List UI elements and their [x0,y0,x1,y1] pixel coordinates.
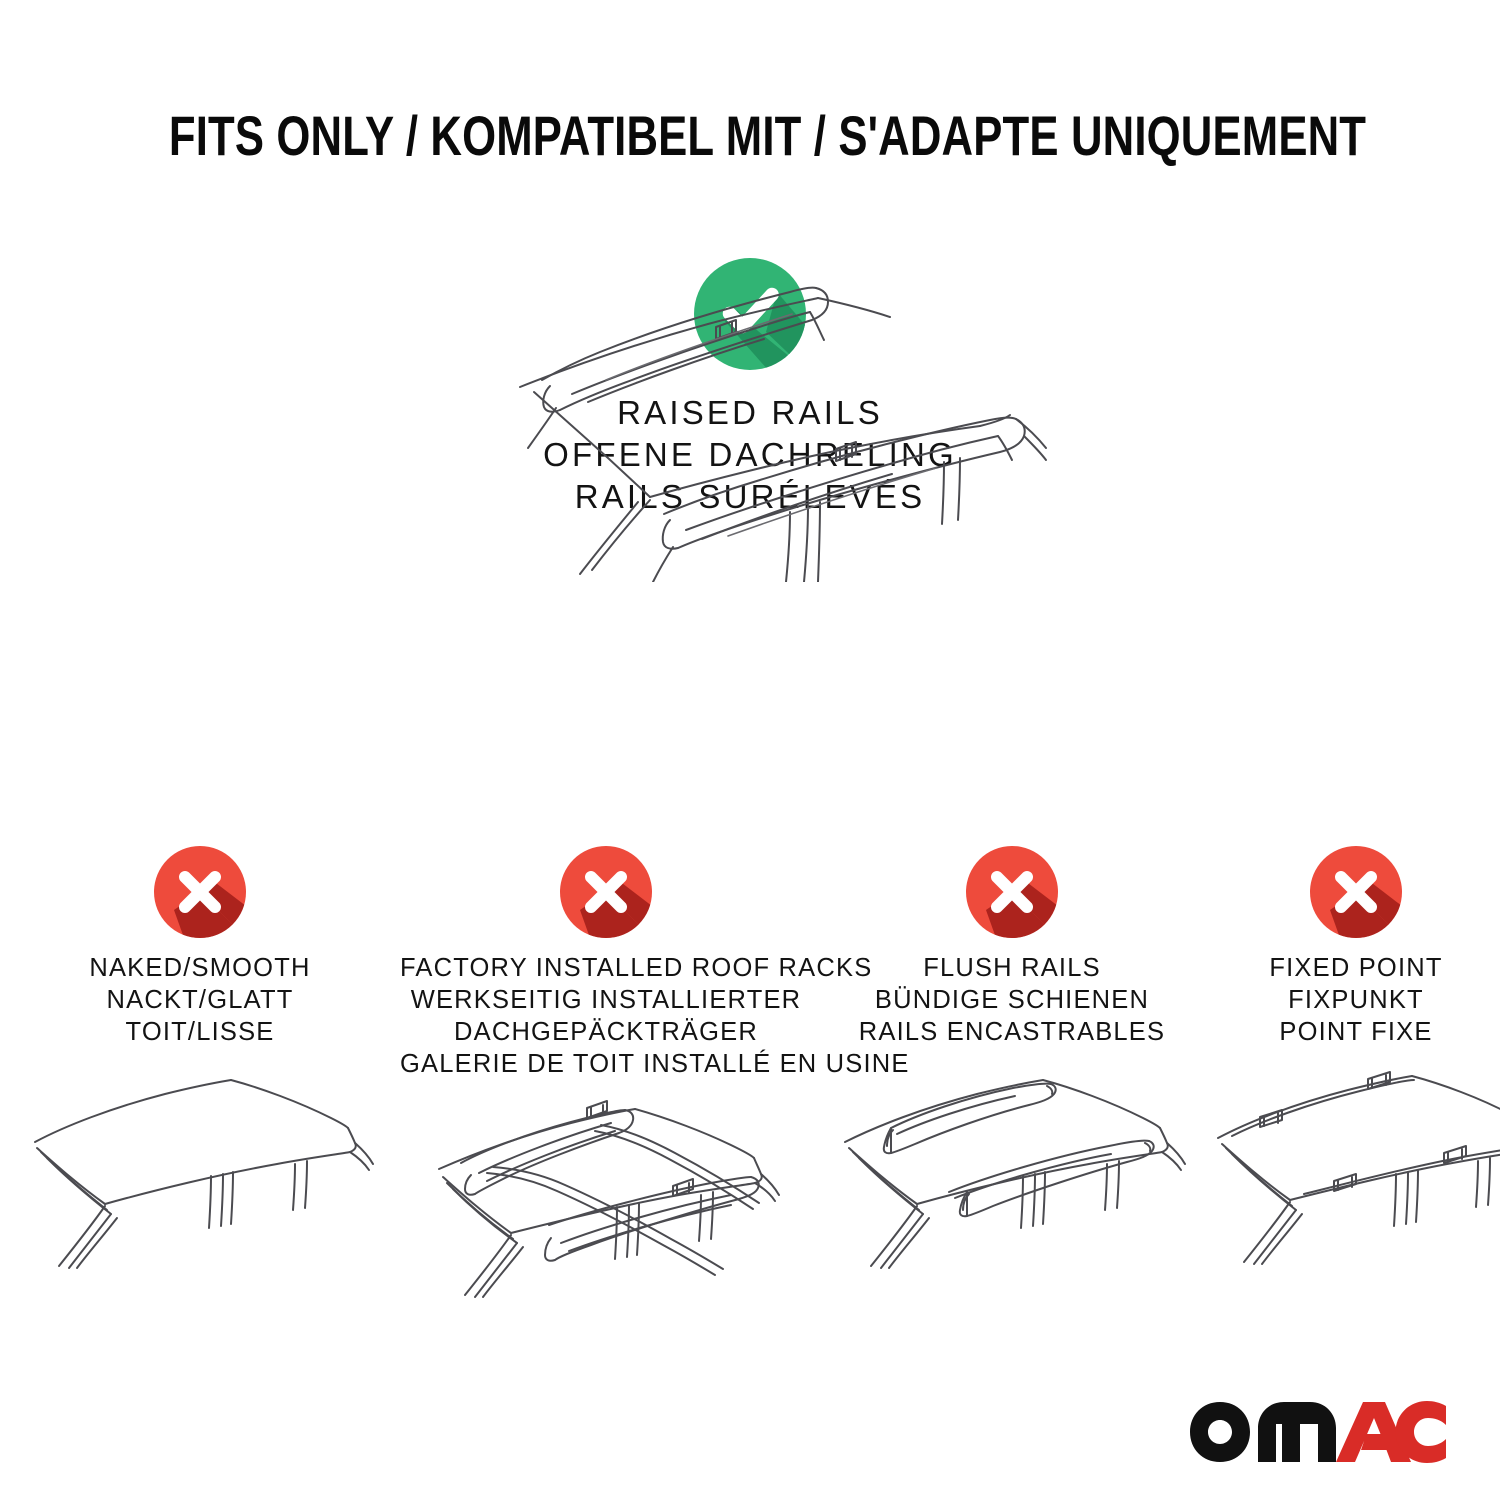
label-line-fr: RAILS ENCASTRABLES [812,1016,1212,1048]
omac-logo [1188,1400,1448,1464]
page-title: FITS ONLY / KOMPATIBEL MIT / S'ADAPTE UN… [0,108,1500,164]
label-line-en: FACTORY INSTALLED ROOF RACKS [400,952,812,984]
incompatible-labels: FACTORY INSTALLED ROOF RACKS WERKSEITIG … [400,952,812,1081]
label-line-de: FIXPUNKT [1212,984,1500,1016]
incompatible-item-naked-smooth: NAKED/SMOOTH NACKT/GLATT TOIT/LISSE [0,846,400,1294]
cross-circle-icon [560,846,652,938]
incompatible-labels: FLUSH RAILS BÜNDIGE SCHIENEN RAILS ENCAS… [812,952,1212,1048]
car-roof-raised-rails-illustration [0,252,1500,582]
car-roof-factory-roof-racks-illustration [400,1097,812,1327]
page-title-text: FITS ONLY / KOMPATIBEL MIT / S'ADAPTE UN… [169,108,1366,164]
label-line-de-1: WERKSEITIG INSTALLIERTER [400,984,812,1016]
incompatible-grid: NAKED/SMOOTH NACKT/GLATT TOIT/LISSE [0,846,1500,1327]
label-line-de-2: DACHGEPÄCKTRÄGER [400,1016,812,1048]
cross-circle-icon [1310,846,1402,938]
label-line-fr: TOIT/LISSE [0,1016,400,1048]
label-line-de: BÜNDIGE SCHIENEN [812,984,1212,1016]
label-line-en: NAKED/SMOOTH [0,952,400,984]
cross-circle-icon [154,846,246,938]
cross-circle-icon [966,846,1058,938]
car-roof-fixed-point-illustration [1212,1064,1500,1294]
label-line-en: FLUSH RAILS [812,952,1212,984]
car-roof-flush-rails-illustration [812,1064,1212,1294]
car-roof-naked-smooth-illustration [0,1064,400,1294]
label-line-fr: GALERIE DE TOIT INSTALLÉ EN USINE [400,1048,812,1080]
incompatible-item-flush-rails: FLUSH RAILS BÜNDIGE SCHIENEN RAILS ENCAS… [812,846,1212,1294]
incompatible-item-factory-roof-racks: FACTORY INSTALLED ROOF RACKS WERKSEITIG … [400,846,812,1327]
incompatible-labels: NAKED/SMOOTH NACKT/GLATT TOIT/LISSE [0,952,400,1048]
label-line-de: NACKT/GLATT [0,984,400,1016]
incompatible-item-fixed-point: FIXED POINT FIXPUNKT POINT FIXE [1212,846,1500,1294]
incompatible-labels: FIXED POINT FIXPUNKT POINT FIXE [1212,952,1500,1048]
label-line-en: FIXED POINT [1212,952,1500,984]
label-line-fr: POINT FIXE [1212,1016,1500,1048]
